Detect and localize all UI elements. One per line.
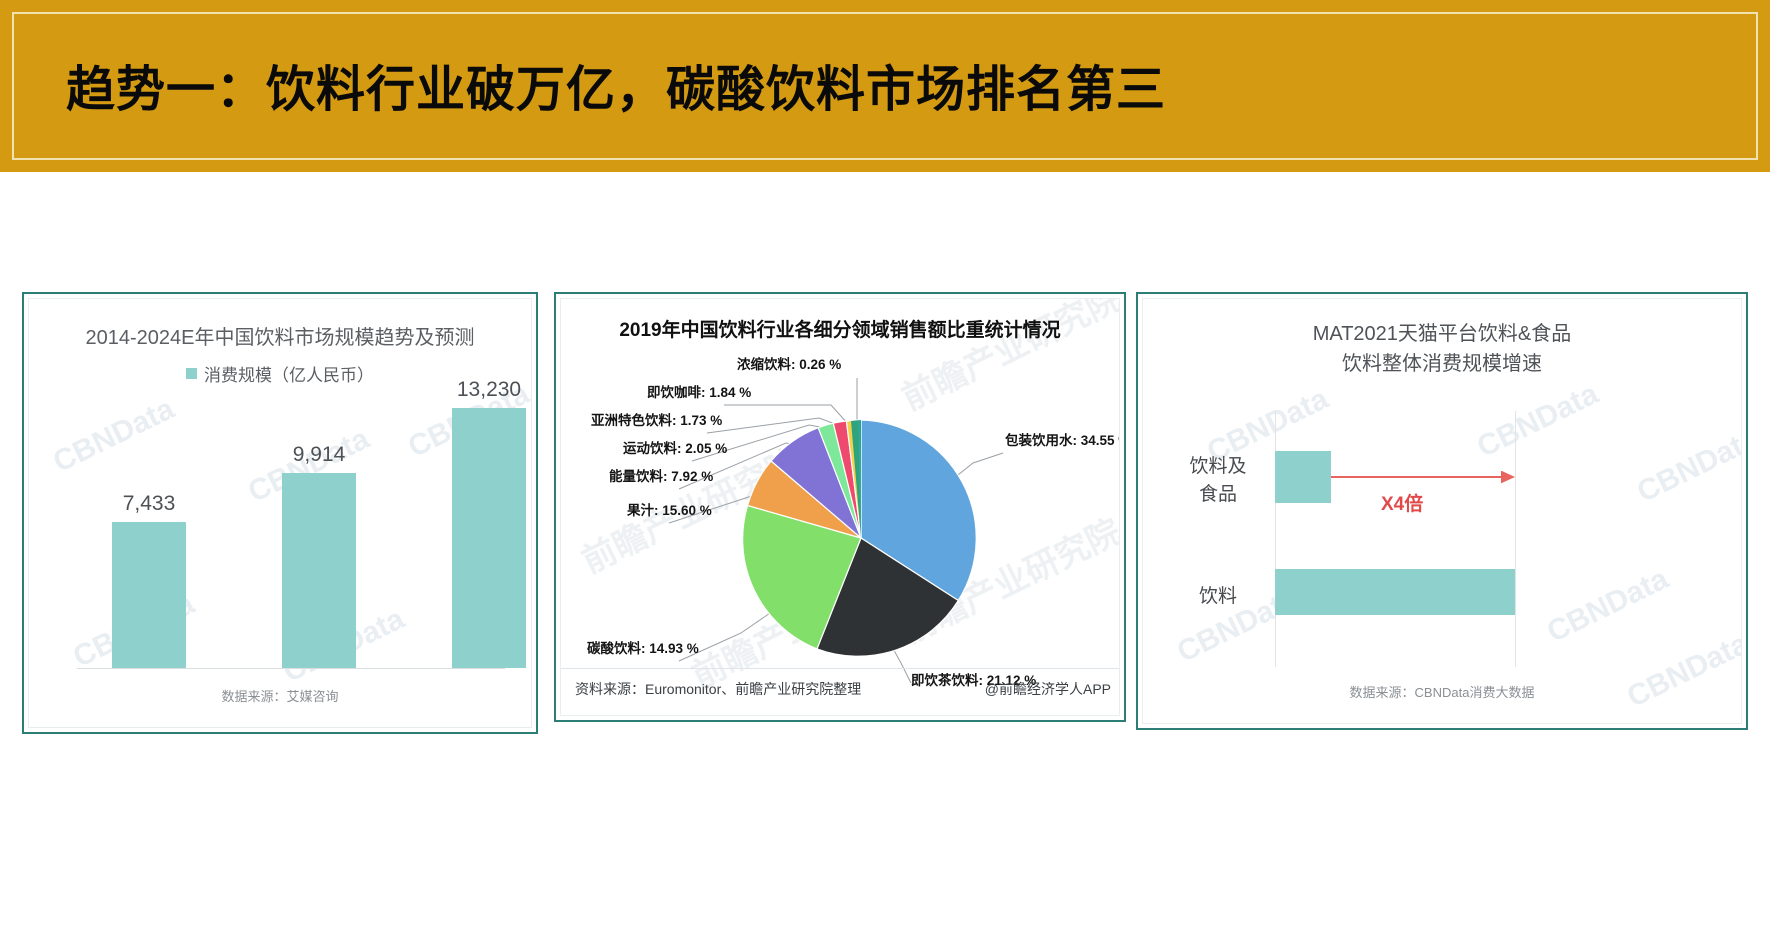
chart-app-credit: @前瞻经济学人APP [985,679,1111,699]
chart-title-line-1: MAT2021天猫平台饮料&食品 [1143,319,1741,349]
panel-inner-frame: CBNData CBNData CBNData CBNData CBNData … [28,298,532,728]
bar-value-label: 7,433 [79,492,219,516]
bar-group[interactable]: 9,914 [282,473,356,668]
grid-line [1515,411,1516,667]
bar-rect[interactable] [112,522,186,668]
slide-header-banner: 趋势一：饮料行业破万亿，碳酸饮料市场排名第三 [0,0,1770,172]
chart-title: MAT2021天猫平台饮料&食品 饮料整体消费规模增速 [1143,319,1741,379]
growth-arrow-icon [1331,471,1523,491]
grid-line [1275,411,1276,667]
pie-label-concentrate: 浓缩饮料: 0.26 % [737,353,841,373]
panel-inner-frame: 前瞻产业研究院 前瞻产业研究院 前瞻产业研究院 前瞻产业研究院 2019年中国饮… [560,298,1120,716]
bar-rect[interactable] [452,408,526,668]
leader-line [953,453,1003,479]
legend-swatch-icon [186,368,197,379]
pie-label-sports: 运动饮料: 2.05 % [623,437,727,457]
chart-panel-category-share[interactable]: 前瞻产业研究院 前瞻产业研究院 前瞻产业研究院 前瞻产业研究院 2019年中国饮… [554,292,1126,722]
bar-rect-beverage[interactable] [1275,569,1515,615]
chart-title-line-2: 饮料整体消费规模增速 [1143,349,1741,379]
pie-label-carbonated: 碳酸饮料: 14.93 % [587,637,699,657]
page-title: 趋势一：饮料行业破万亿，碳酸饮料市场排名第三 [66,50,1166,121]
chart-title: 2014-2024E年中国饮料市场规模趋势及预测 [29,321,531,350]
bar-value-label: 9,914 [249,443,389,467]
chart-source-note: 数据来源：艾媒咨询 [29,686,531,705]
bar-group[interactable]: 13,230 [452,408,526,668]
chart-panel-market-size[interactable]: CBNData CBNData CBNData CBNData CBNData … [22,292,538,734]
pie-label-rtd-coffee: 即饮咖啡: 1.84 % [647,381,751,401]
legend-label: 消费规模（亿人民币） [204,361,374,386]
x-axis-line [77,668,505,669]
chart-footer: 资料来源：Euromonitor、前瞻产业研究院整理 @前瞻经济学人APP [561,668,1119,705]
y-tick-label: 饮料及食品 [1163,453,1273,508]
bar-chart-plot-area: 7,433 2014 9,914 2019 13,230 2024E [67,399,513,669]
chart-panel-tmall-growth[interactable]: CBNData CBNData CBNData CBNData CBNData … [1136,292,1748,730]
growth-annotation: X4倍 [1381,489,1423,516]
panel-inner-frame: CBNData CBNData CBNData CBNData CBNData … [1142,298,1742,724]
chart-source-note: 资料来源：Euromonitor、前瞻产业研究院整理 [575,679,861,699]
bar-rect-food-and-beverage[interactable] [1275,451,1331,503]
y-tick-label: 饮料 [1163,583,1273,611]
pie-label-energy: 能量饮料: 7.92 % [609,465,713,485]
bar-chart-plot-area: 饮料及食品 X4倍 饮料 [1163,405,1721,667]
pie-label-packaged-water: 包装饮用水: 34.55 % [1005,429,1120,449]
bar-value-label: 13,230 [419,378,532,402]
bar-rect[interactable] [282,473,356,668]
pie-label-juice: 果汁: 15.60 % [627,499,712,519]
chart-source-note: 数据来源：CBNData消费大数据 [1143,682,1741,701]
pie-label-asian-specialty: 亚洲特色饮料: 1.73 % [591,409,722,429]
bar-group[interactable]: 7,433 [112,522,186,668]
